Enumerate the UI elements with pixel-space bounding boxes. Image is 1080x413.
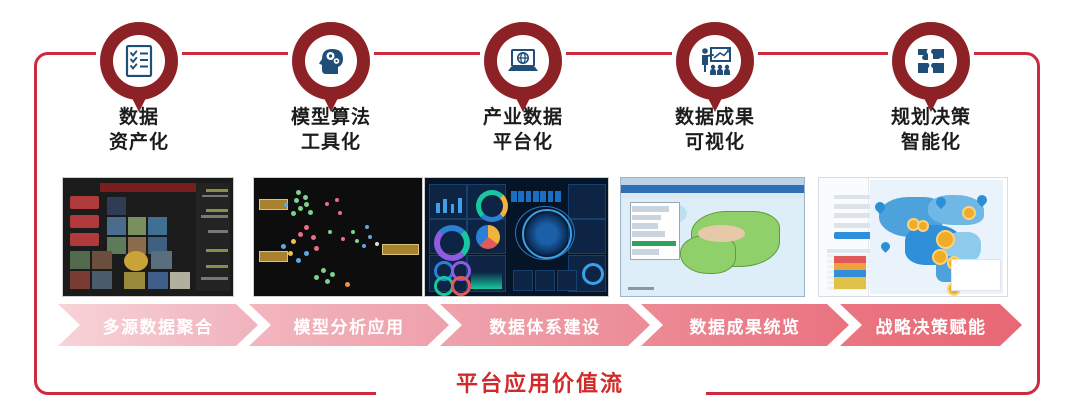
step-pin-5[interactable] [892, 22, 970, 118]
caption-line-4b: 可视化 [630, 130, 800, 155]
gis-tree-row [632, 249, 659, 255]
flow-arrow-1[interactable]: 多源数据聚合 [58, 304, 258, 346]
head-with-gears-icon [305, 35, 357, 87]
bi-sparkline [471, 272, 502, 289]
graph-node [375, 242, 379, 246]
caption-line-5a: 规划决策 [846, 105, 1016, 130]
thumb1-bottom-tile [92, 251, 112, 269]
graph-node [308, 210, 313, 215]
graph-node [325, 279, 330, 284]
flow-arrow-label-5: 战略决策赋能 [876, 313, 987, 338]
graph-node [355, 239, 359, 243]
gis-tree-row [632, 206, 669, 212]
thumb1-panel-line [201, 277, 228, 280]
graph-node [284, 203, 288, 207]
thumb1-tile [107, 197, 126, 215]
flow-arrow-5[interactable]: 战略决策赋能 [840, 304, 1022, 346]
presenter-whiteboard-audience-icon [689, 35, 741, 87]
gis-regional-map-screenshot[interactable] [620, 177, 805, 297]
caption-line-1b: 资产化 [54, 130, 224, 155]
flow-arrow-2[interactable]: 模型分析应用 [249, 304, 449, 346]
bi-digit [518, 191, 524, 202]
thumb1-bottom-tile [170, 272, 190, 289]
thumb1-panel-line [208, 230, 228, 233]
graph-node [314, 246, 319, 251]
bi-kpi-tile [535, 270, 555, 291]
thumb1-tile [148, 217, 167, 235]
flow-arrow-3[interactable]: 数据体系建设 [440, 304, 650, 346]
step-pin-2[interactable] [292, 22, 370, 118]
flow-arrow-label-2: 模型分析应用 [294, 313, 405, 338]
thumb1-title-bar [100, 183, 195, 192]
bi-bar [458, 198, 462, 213]
multi-source-data-console-screenshot[interactable] [62, 177, 234, 297]
graph-node [338, 211, 342, 215]
caption-line-3b: 平台化 [438, 130, 608, 155]
graph-node [365, 225, 369, 229]
graph-node [311, 235, 316, 240]
thumb1-panel-line [206, 209, 228, 212]
china-decision-map-screenshot[interactable] [818, 177, 1008, 297]
graph-node [298, 206, 303, 211]
gis-highlight-region [698, 225, 746, 242]
bi-donut [476, 190, 508, 222]
bi-digit [511, 191, 517, 202]
graph-node [291, 239, 296, 244]
graph-node [291, 211, 296, 216]
thumb1-tile [107, 217, 126, 235]
graph-node [296, 190, 301, 195]
graph-node [325, 202, 329, 206]
thumb1-bottom-tile [92, 271, 112, 289]
flow-arrow-label-1: 多源数据聚合 [103, 313, 214, 338]
graph-node [304, 251, 309, 256]
flow-arrow-4[interactable]: 数据成果统览 [641, 304, 849, 346]
thumb2-label-tag [259, 251, 288, 262]
gis-scale-bar [628, 287, 654, 291]
caption-line-3a: 产业数据 [438, 105, 608, 130]
step-pin-3[interactable] [484, 22, 562, 118]
thumb1-panel-line [201, 215, 228, 218]
step-caption-1: 数据 资产化 [54, 105, 224, 155]
graph-node [330, 272, 335, 277]
graph-node [362, 244, 366, 248]
graph-node [314, 275, 319, 280]
graph-node [341, 237, 345, 241]
thumb1-panel-line [202, 195, 228, 198]
puzzle-piece-icon [905, 35, 957, 87]
graph-node [368, 235, 372, 239]
thumb1-bottom-tile [70, 251, 90, 269]
laptop-globe-icon [497, 35, 549, 87]
bi-digit [555, 191, 561, 202]
bi-card [568, 184, 607, 219]
step-pin-4[interactable] [676, 22, 754, 118]
thumb1-chart-tile [124, 251, 148, 271]
bi-globe-ring [515, 206, 575, 260]
gis-tree-row [632, 215, 661, 221]
thumb1-panel-line [206, 189, 228, 192]
thumb1-bottom-tile [148, 272, 168, 289]
thumb1-button-2 [70, 215, 99, 228]
checklist-document-icon [113, 35, 165, 87]
thumb1-panel-line [206, 249, 228, 252]
graph-node [335, 198, 339, 202]
gis-toolbar [621, 185, 804, 193]
graph-node [345, 282, 350, 287]
caption-line-2b: 工具化 [246, 130, 416, 155]
caption-line-5b: 智能化 [846, 130, 1016, 155]
bottom-title: 平台应用价值流 [0, 366, 1080, 398]
graph-node [321, 268, 326, 273]
gis-tree-row-selected [632, 241, 676, 247]
bi-bar [436, 203, 440, 214]
graph-node [328, 230, 332, 234]
bi-digit [540, 191, 546, 202]
bi-digit [526, 191, 532, 202]
bi-kpi-tile [513, 270, 533, 291]
graph-node [304, 225, 309, 230]
thumb1-right-panel [196, 183, 230, 292]
graph-node [303, 195, 308, 200]
graph-node [298, 232, 303, 237]
map-legend [951, 259, 1002, 292]
flow-arrow-label-4: 数据成果统览 [690, 313, 801, 338]
graph-node [281, 244, 286, 249]
industry-data-bi-dashboard-screenshot[interactable] [424, 177, 609, 297]
graph-node [288, 251, 293, 256]
caption-line-2a: 模型算法 [246, 105, 416, 130]
graph-node [294, 198, 299, 203]
bi-digit [533, 191, 539, 202]
thumb1-tile [128, 217, 147, 235]
graph-node [351, 230, 355, 234]
thumb1-bottom-tile [70, 271, 90, 289]
step-caption-3: 产业数据 平台化 [438, 105, 608, 155]
step-pin-1[interactable] [100, 22, 178, 118]
map-value-bubble [936, 230, 955, 249]
thumb1-bottom-tile [151, 251, 171, 269]
network-graph-analysis-screenshot[interactable] [253, 177, 423, 297]
step-caption-5: 规划决策 智能化 [846, 105, 1016, 155]
infographic-canvas: 数据 资产化 模型算法 工具化 产业数据 平台化 数据成果 可视化 规划决策 智… [0, 0, 1080, 413]
graph-node [296, 258, 301, 263]
graph-node [304, 202, 309, 207]
bi-bar [451, 204, 455, 213]
thumb1-panel-line [206, 265, 228, 268]
bi-donut [451, 276, 471, 296]
bi-digit [548, 191, 554, 202]
thumb1-button-3 [70, 233, 99, 246]
legend-row [834, 277, 866, 289]
caption-line-1a: 数据 [54, 105, 224, 130]
gis-tree-row [632, 223, 658, 229]
gis-menu-bar [621, 178, 804, 185]
map-value-bubble [932, 249, 948, 265]
step-caption-4: 数据成果 可视化 [630, 105, 800, 155]
flow-arrow-label-3: 数据体系建设 [490, 313, 601, 338]
thumb2-label-tag [382, 244, 419, 255]
step-caption-2: 模型算法 工具化 [246, 105, 416, 155]
thumb1-bottom-tile [124, 272, 144, 289]
gis-tree-row [632, 231, 665, 237]
bi-bar [443, 199, 447, 213]
caption-line-4a: 数据成果 [630, 105, 800, 130]
bi-kpi-tile [557, 270, 577, 291]
thumb1-button-1 [70, 196, 99, 209]
